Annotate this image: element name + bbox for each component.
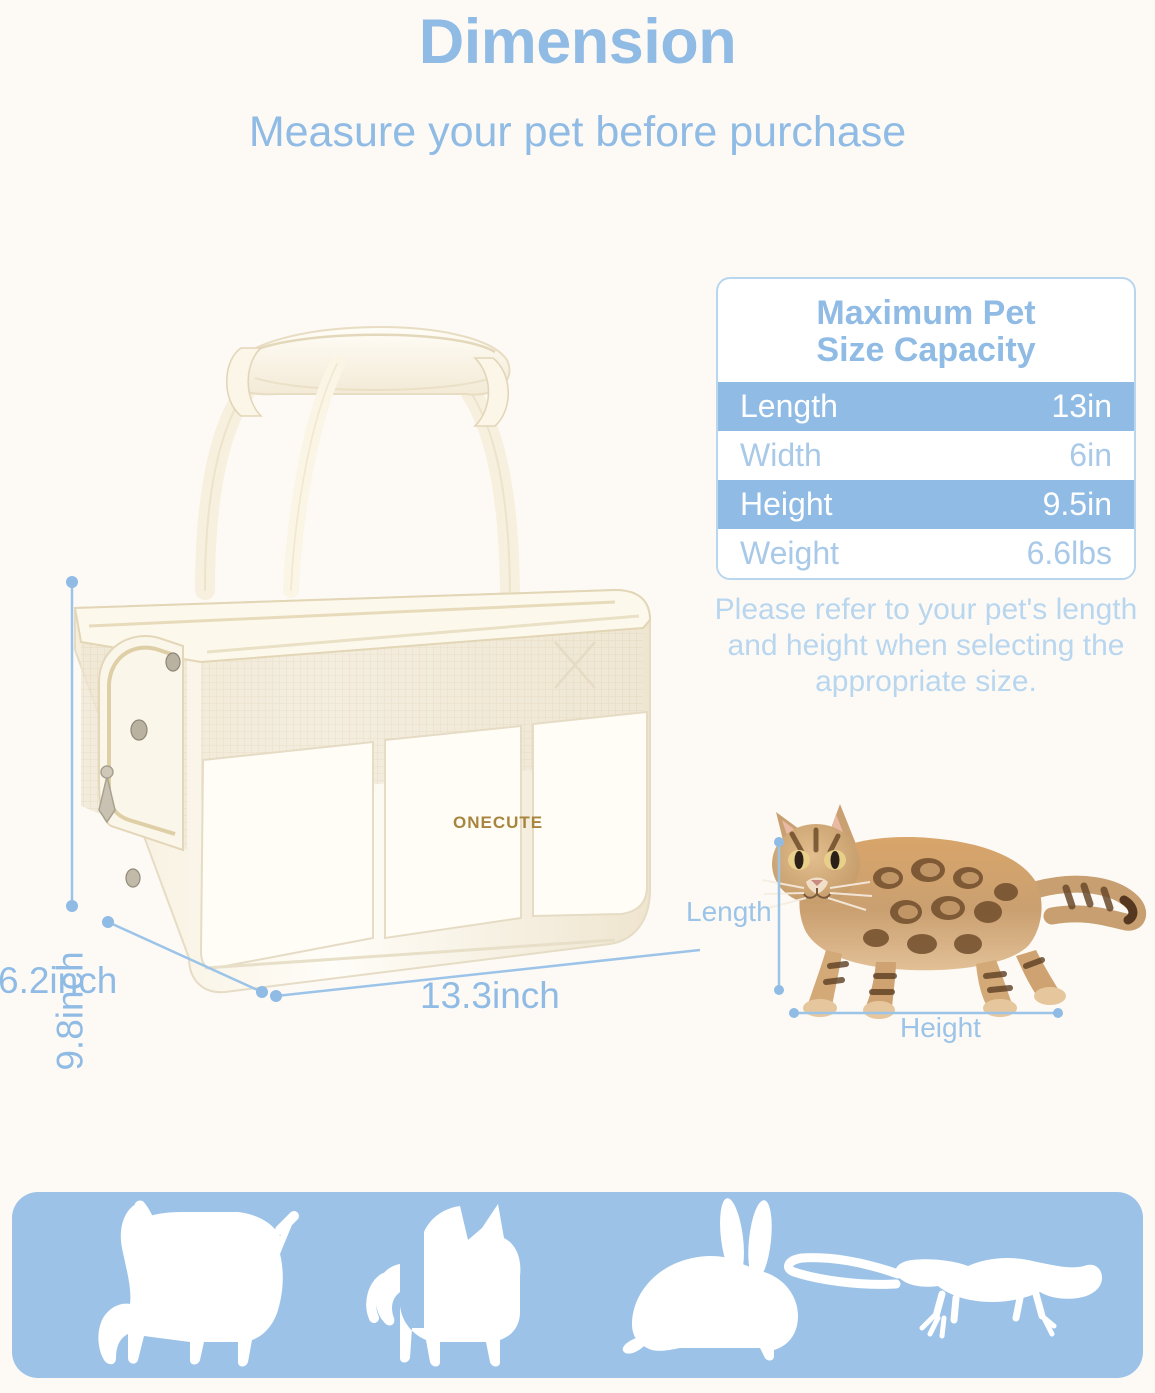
spec-value: 6.6lbs — [1027, 535, 1112, 572]
compatible-pets-banner — [12, 1192, 1143, 1378]
dog-silhouette — [371, 1204, 520, 1367]
table-row: Width 6in — [718, 431, 1134, 480]
infographic-page: Dimension Measure your pet before purcha… — [0, 0, 1155, 1393]
page-subtitle: Measure your pet before purchase — [0, 108, 1155, 157]
spec-label: Length — [740, 388, 838, 425]
animal-silhouettes — [12, 1192, 1143, 1378]
spec-title-line1: Maximum Pet — [732, 295, 1120, 332]
rabbit-silhouette — [623, 1197, 798, 1361]
cat-silhouette — [98, 1202, 294, 1367]
spec-label: Width — [740, 437, 822, 474]
cat-height-label: Height — [900, 1012, 981, 1044]
pet-carrier-illustration: ONECUTE 9.8inch — [55, 290, 705, 1000]
spec-value: 6in — [1069, 437, 1112, 474]
spec-table-title: Maximum Pet Size Capacity — [718, 279, 1134, 382]
bag-depth-label: 6.2inch — [0, 960, 117, 1002]
spec-value: 13in — [1052, 388, 1113, 425]
bag-width-label: 13.3inch — [420, 975, 560, 1017]
lizard-silhouette — [788, 1258, 1102, 1336]
table-row: Length 13in — [718, 382, 1134, 431]
brand-logo-text: ONECUTE — [453, 813, 543, 832]
spec-label: Weight — [740, 535, 839, 572]
spec-label: Height — [740, 486, 833, 523]
pet-carrier-svg: ONECUTE — [55, 290, 705, 1000]
page-title: Dimension — [0, 6, 1155, 78]
spec-table-note: Please refer to your pet's length and he… — [700, 592, 1152, 700]
spec-value: 9.5in — [1043, 486, 1112, 523]
spec-title-line2: Size Capacity — [732, 332, 1120, 369]
table-row: Weight 6.6lbs — [718, 529, 1134, 578]
table-row: Height 9.5in — [718, 480, 1134, 529]
max-pet-size-table: Maximum Pet Size Capacity Length 13in Wi… — [716, 277, 1136, 580]
cat-length-label: Length — [686, 896, 772, 928]
